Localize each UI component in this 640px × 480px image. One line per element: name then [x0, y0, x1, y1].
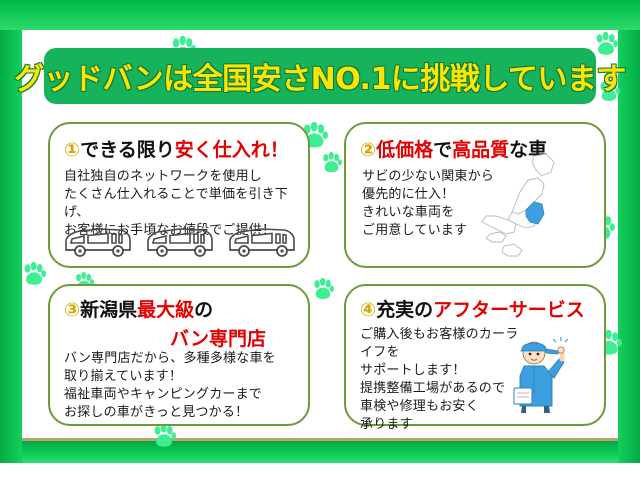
feature-4-number: ④	[360, 299, 376, 321]
feature-3-heading-accent: 最大級	[137, 299, 194, 321]
van-icon	[144, 224, 216, 260]
feature-4-body: ご購入後もお客様のカーライフを サポートします！ 提携整備工場があるので 車検や…	[360, 326, 520, 434]
feature-3-heading-plain: 新潟県	[80, 299, 137, 321]
feature-4-heading-accent: アフターサービス	[433, 299, 585, 321]
advertisement-banner: グッドバンは全国安さNO.1に挑戦しています ①できる限り安く仕入れ！ 自社独自…	[0, 0, 640, 480]
van-illustration-group	[62, 220, 298, 260]
feature-3-heading: ③新潟県最大級の	[64, 300, 213, 321]
japan-map-illustration	[468, 152, 570, 260]
feature-1-heading-accent: 安く仕入れ！	[175, 139, 289, 161]
feature-3-number: ③	[64, 299, 80, 321]
feature-1-number: ①	[64, 139, 80, 161]
feature-1-heading: ①できる限り安く仕入れ！	[64, 140, 289, 161]
feature-2-number: ②	[360, 139, 376, 161]
paw-print-icon	[321, 152, 342, 175]
frame-bottom-bar	[22, 441, 618, 463]
feature-1-heading-plain: できる限り	[80, 139, 175, 161]
paw-print-icon	[312, 278, 334, 302]
paw-print-icon	[22, 262, 46, 288]
feature-2-heading-accent: 低価格	[376, 139, 433, 161]
feature-4-heading-plain: 充実の	[376, 299, 433, 321]
paw-print-icon	[152, 424, 176, 450]
feature-2-heading-plain: で	[433, 139, 452, 161]
mechanic-illustration	[504, 336, 574, 414]
feature-3-heading-plain2: の	[194, 299, 213, 321]
headline-text: グッドバンは全国安さNO.1に挑戦しています	[14, 54, 626, 98]
feature-4-heading: ④充実のアフターサービス	[360, 300, 585, 321]
van-icon	[226, 224, 298, 260]
feature-3-heading-line2: バン専門店	[170, 324, 266, 351]
frame-top-bar	[0, 0, 640, 30]
headline-banner: グッドバンは全国安さNO.1に挑戦しています	[44, 48, 596, 104]
feature-3-body: バン専門店だから、多種多様な車を 取り揃えています！ 福祉車両やキャンピングカー…	[64, 350, 304, 422]
van-icon	[62, 224, 134, 260]
